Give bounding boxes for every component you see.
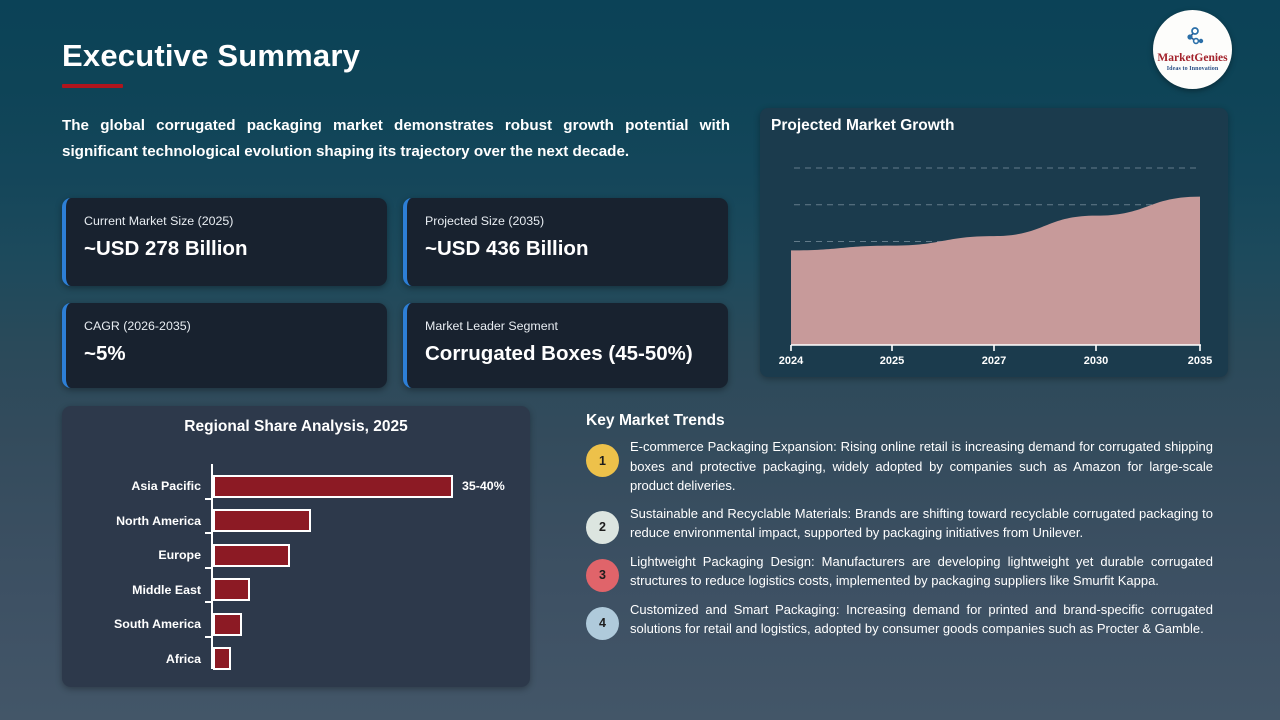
trend-description: Lightweight Packaging Design: Manufactur…: [630, 552, 1213, 591]
trend-number-badge: 3: [586, 559, 619, 592]
trends-heading: Key Market Trends: [586, 412, 725, 430]
bar-rect: [213, 578, 250, 601]
bar-chart-row: North America: [63, 504, 311, 538]
bar-rect: [213, 509, 311, 532]
bar-rect: [213, 647, 231, 670]
trend-description: Customized and Smart Packaging: Increasi…: [630, 600, 1213, 639]
bar-category-label: Middle East: [63, 583, 213, 597]
trend-item: 2Sustainable and Recyclable Materials: B…: [586, 504, 1226, 544]
trend-number-badge: 1: [586, 444, 619, 477]
bar-rect: [213, 544, 290, 567]
trend-description: Sustainable and Recyclable Materials: Br…: [630, 504, 1213, 543]
bar-chart-row: Europe: [63, 538, 290, 572]
bar-chart-row: Middle East: [63, 573, 250, 607]
trend-item: 3Lightweight Packaging Design: Manufactu…: [586, 552, 1226, 592]
bar-category-label: Africa: [63, 652, 213, 666]
bar-category-label: North America: [63, 514, 213, 528]
bar-value-label: 35-40%: [462, 479, 505, 493]
bar-category-label: South America: [63, 617, 213, 631]
bar-category-label: Asia Pacific: [63, 479, 213, 493]
bar-rect: [213, 613, 242, 636]
trend-item: 4Customized and Smart Packaging: Increas…: [586, 600, 1226, 640]
bar-rect: [213, 475, 453, 498]
trend-description: E-commerce Packaging Expansion: Rising o…: [630, 437, 1213, 496]
bar-chart-row: Asia Pacific35-40%: [63, 469, 505, 503]
trends-list: 1E-commerce Packaging Expansion: Rising …: [586, 437, 1226, 648]
trend-number-badge: 2: [586, 511, 619, 544]
bar-chart-row: Africa: [63, 642, 231, 676]
bar-chart-axis: [211, 464, 213, 669]
bar-chart-row: South America: [63, 607, 242, 641]
trend-item: 1E-commerce Packaging Expansion: Rising …: [586, 437, 1226, 496]
bar-category-label: Europe: [63, 548, 213, 562]
trend-number-badge: 4: [586, 607, 619, 640]
